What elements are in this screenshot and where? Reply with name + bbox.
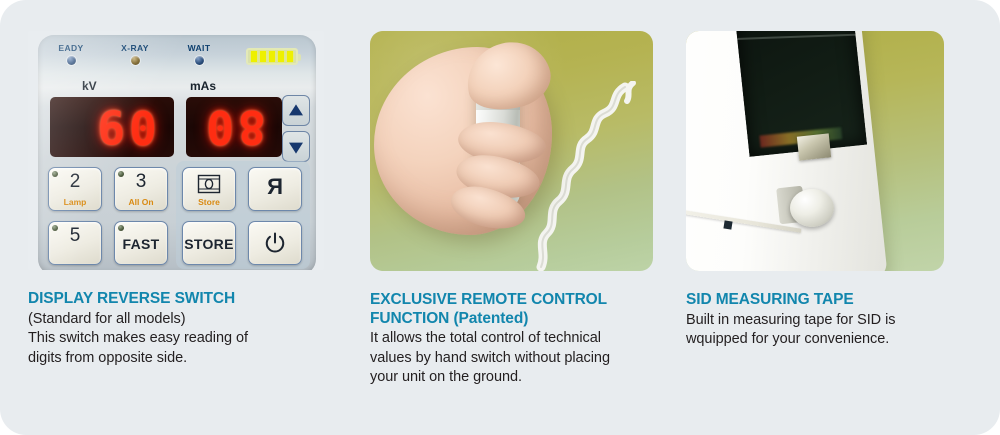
key-label: 3 [115, 172, 167, 192]
chevron-down-icon [289, 142, 303, 153]
measuring-tape-tip [723, 220, 732, 229]
mas-display-value: 80 [186, 101, 282, 153]
caption-remote-control: EXCLUSIVE REMOTE CONTROL FUNCTION (Paten… [370, 291, 653, 388]
battery-bar [269, 51, 275, 62]
digital-displays: 09 80 [38, 97, 316, 159]
caption-body-line: digits from opposite side. [28, 349, 324, 369]
status-indicator-wait: WAIT [168, 43, 230, 65]
caption-body-line: Built in measuring tape for SID is [686, 311, 944, 331]
battery-bar [278, 51, 284, 62]
key-sublabel: All On [115, 198, 167, 207]
feature-columns: EADY X-RAY WAIT [0, 0, 1000, 435]
caption-body: Built in measuring tape for SID is wquip… [686, 311, 944, 350]
status-label-wait: WAIT [168, 43, 230, 53]
key-power[interactable] [248, 221, 302, 265]
key-5[interactable]: 5 [48, 221, 102, 265]
caption-display-reverse-switch: DISPLAY REVERSE SWITCH (Standard for all… [28, 290, 324, 368]
led-xray-icon [131, 56, 140, 65]
caption-title-line: EXCLUSIVE REMOTE CONTROL [370, 291, 607, 308]
key-2-lamp[interactable]: 2 Lamp [48, 167, 102, 211]
led-ready-icon [67, 56, 76, 65]
status-label-xray: X-RAY [104, 43, 166, 53]
caption-sid-measuring-tape: SID MEASURING TAPE Built in measuring ta… [686, 291, 944, 350]
key-label: FAST [115, 234, 167, 254]
key-sublabel: Store [183, 198, 235, 207]
caption-body-line: values by hand switch without placing [370, 349, 653, 369]
battery-bar [251, 51, 257, 62]
feature-item-remote-control: EXCLUSIVE REMOTE CONTROL FUNCTION (Paten… [370, 31, 653, 388]
battery-level-icon [246, 48, 298, 65]
key-rotate-reverse[interactable]: R [248, 167, 302, 211]
led-wait-icon [195, 56, 204, 65]
status-label-ready: EADY [40, 43, 102, 53]
caption-body: It allows the total control of technical… [370, 329, 653, 388]
lamp-icon [197, 174, 221, 194]
hand-photo-background [370, 31, 653, 271]
key-lamp-store[interactable]: Store [182, 167, 236, 211]
rotate-icon: R [249, 175, 301, 199]
unit-label-kv: kV [82, 79, 97, 93]
caption-body-line: your unit on the ground. [370, 368, 653, 388]
key-led-icon [118, 225, 124, 231]
key-3-all-on[interactable]: 3 All On [114, 167, 168, 211]
hand-remote-switch-photo [370, 31, 653, 271]
caption-title: EXCLUSIVE REMOTE CONTROL FUNCTION (Paten… [370, 291, 653, 328]
key-label: STORE [183, 234, 235, 254]
battery-bar [287, 51, 293, 62]
sid-photo-background [686, 31, 944, 271]
unit-label-mas: mAs [190, 79, 216, 93]
xray-control-panel-photo: EADY X-RAY WAIT [28, 31, 324, 270]
caption-body-line: wquipped for your convenience. [686, 330, 944, 350]
unit-label-row: kV mAs [38, 79, 316, 95]
feature-panel: EADY X-RAY WAIT [0, 0, 1000, 435]
keypad: 2 Lamp 3 All On [48, 167, 310, 267]
status-indicator-row: EADY X-RAY WAIT [38, 43, 316, 81]
mas-display: 80 [186, 97, 282, 157]
power-icon [264, 232, 286, 254]
caption-body-line: This switch makes easy reading of [28, 329, 324, 349]
sid-measuring-tape-photo [686, 31, 944, 271]
caption-body-line: (Standard for all models) [28, 310, 324, 330]
chevron-up-icon [289, 104, 303, 115]
kv-display: 09 [50, 97, 174, 157]
key-label: 2 [49, 172, 101, 192]
caption-title: SID MEASURING TAPE [686, 291, 944, 310]
stepper-down-button[interactable] [282, 131, 310, 162]
measuring-tape-reel-knob [790, 189, 834, 227]
status-indicator-xray: X-RAY [104, 43, 166, 65]
caption-body: (Standard for all models) This switch ma… [28, 310, 324, 369]
value-stepper [282, 95, 312, 165]
key-sublabel: Lamp [49, 198, 101, 207]
caption-title-line: FUNCTION (Patented) [370, 310, 528, 327]
feature-item-display-reverse-switch: EADY X-RAY WAIT [28, 31, 324, 368]
key-label: 5 [49, 226, 101, 246]
status-indicator-ready: EADY [40, 43, 102, 65]
feature-item-sid-measuring-tape: SID MEASURING TAPE Built in measuring ta… [686, 31, 944, 350]
key-fast[interactable]: FAST [114, 221, 168, 265]
kv-display-value: 09 [50, 101, 174, 153]
control-panel-face: EADY X-RAY WAIT [38, 35, 316, 270]
battery-bar [260, 51, 266, 62]
tape-clip [797, 133, 831, 160]
key-store[interactable]: STORE [182, 221, 236, 265]
caption-body-line: It allows the total control of technical [370, 329, 653, 349]
caption-title: DISPLAY REVERSE SWITCH [28, 290, 324, 309]
stepper-up-button[interactable] [282, 95, 310, 126]
